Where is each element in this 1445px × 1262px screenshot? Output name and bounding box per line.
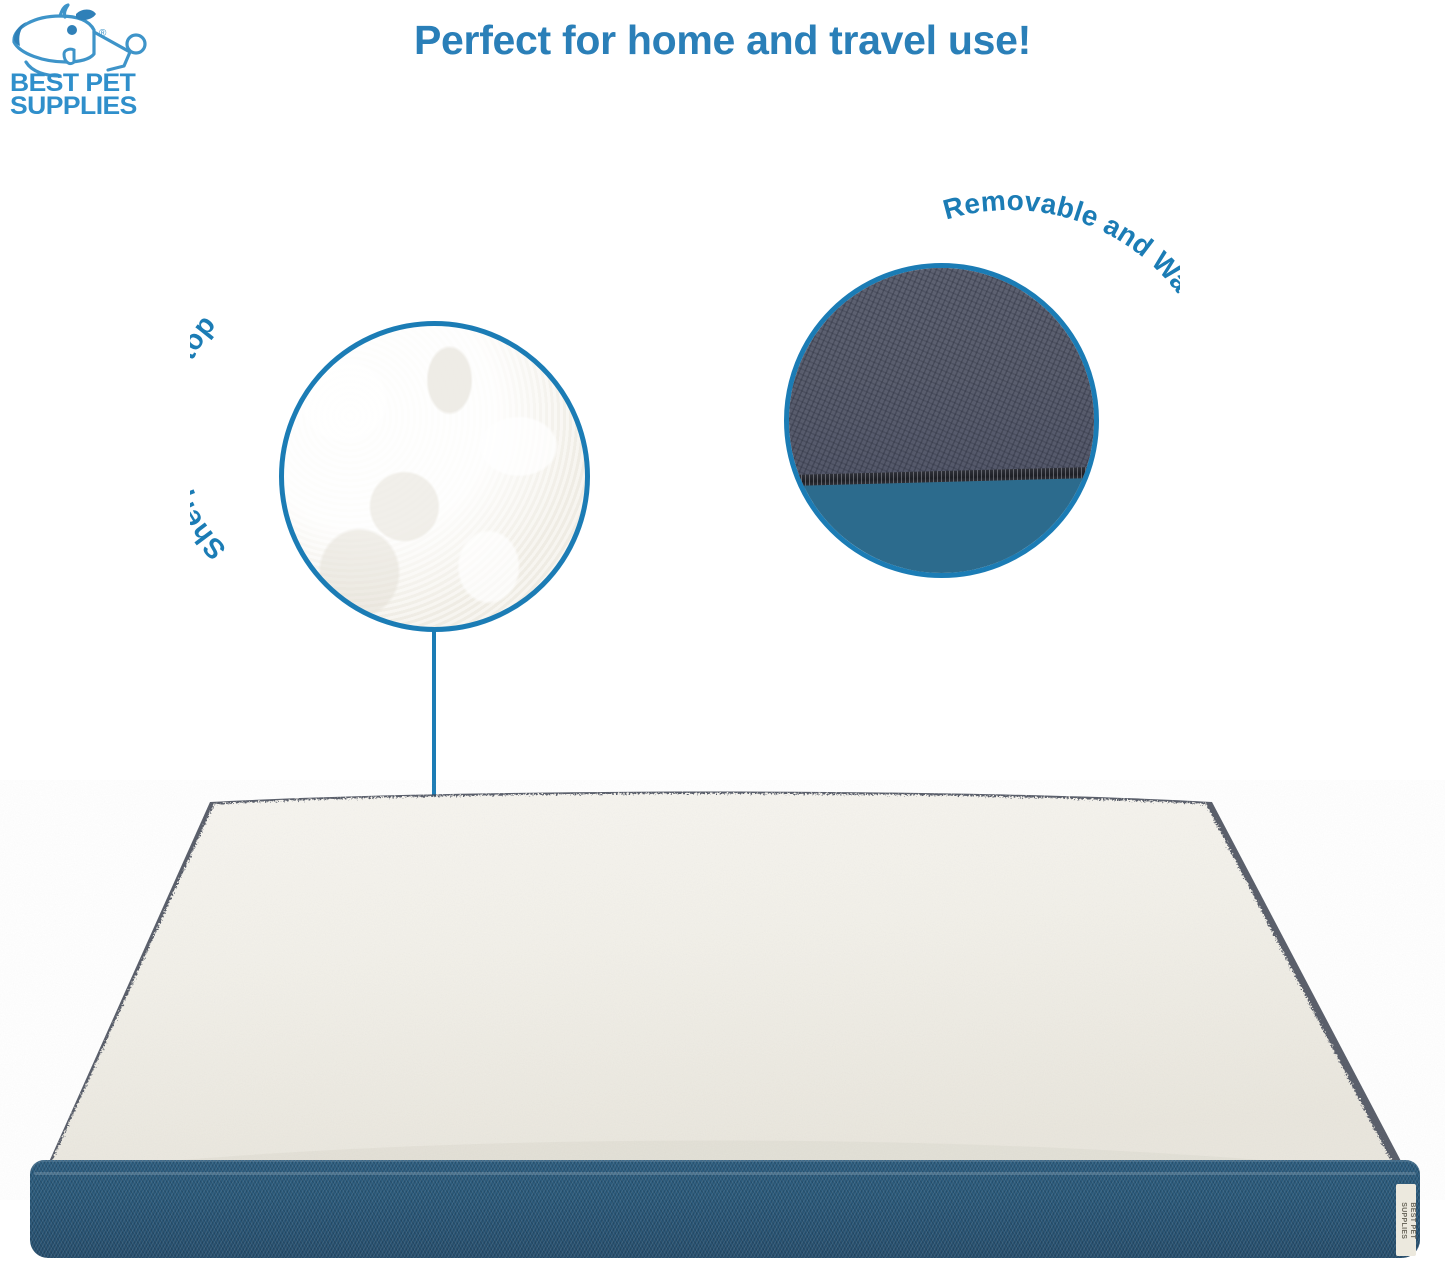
- product-infographic: ® BEST PET SUPPLIES Perfect for home and…: [0, 0, 1445, 1262]
- cover-blue-panel: [784, 477, 1099, 578]
- page-headline: Perfect for home and travel use!: [0, 17, 1445, 64]
- bed-fleece-top: [0, 780, 1445, 1200]
- product-brand-tag: BEST PET SUPPLIES: [1396, 1184, 1416, 1256]
- product-pet-bed: [0, 780, 1445, 1262]
- callout-circle-fleece: [279, 321, 590, 632]
- tag-line1: BEST PET: [1409, 1202, 1416, 1239]
- brand-wordmark: BEST PET SUPPLIES: [10, 72, 160, 118]
- product-brand-tag-text: BEST PET SUPPLIES: [1398, 1186, 1416, 1256]
- callout-circle-cover: [784, 263, 1099, 578]
- bed-base-seam: [34, 1172, 1416, 1175]
- brand-wordmark-line2: SUPPLIES: [10, 95, 169, 118]
- cover-gray-bottom: [784, 263, 1099, 480]
- tag-line2: SUPPLIES: [1400, 1202, 1407, 1239]
- callout-label-text-left: Sherpa Fleece top: [190, 309, 232, 566]
- svg-text:Sherpa Fleece top: Sherpa Fleece top: [190, 309, 232, 566]
